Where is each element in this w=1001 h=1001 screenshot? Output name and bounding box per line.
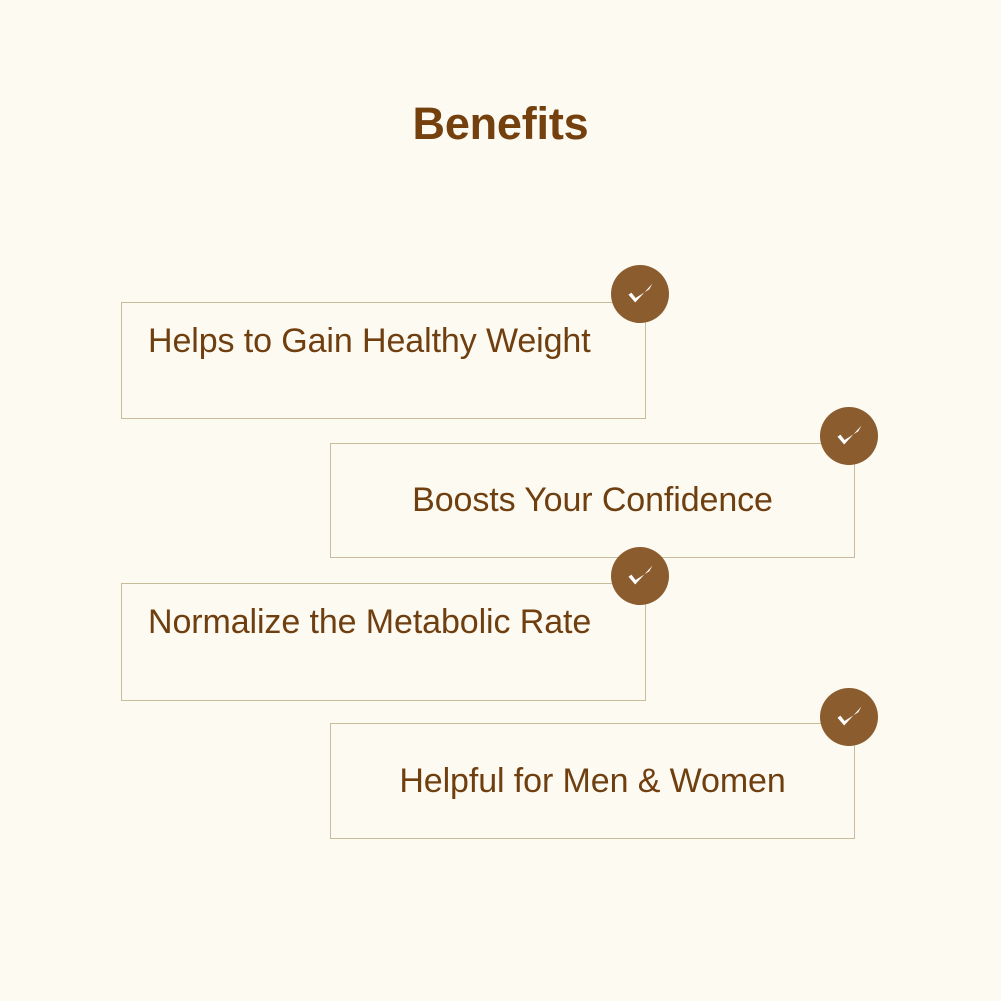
benefit-label-1: Helps to Gain Healthy Weight xyxy=(148,317,619,365)
benefits-panel: Benefits Helps to Gain Healthy Weight Bo… xyxy=(0,0,1001,1001)
page-title: Benefits xyxy=(0,101,1001,146)
check-circle-icon xyxy=(611,265,669,323)
check-circle-icon xyxy=(820,688,878,746)
benefit-item-1: Helps to Gain Healthy Weight xyxy=(121,302,646,419)
benefit-label-2: Boosts Your Confidence xyxy=(357,444,828,557)
benefit-label-4: Helpful for Men & Women xyxy=(357,724,828,838)
benefit-item-3: Normalize the Metabolic Rate xyxy=(121,583,646,701)
benefit-label-3: Normalize the Metabolic Rate xyxy=(148,598,619,646)
benefit-item-2: Boosts Your Confidence xyxy=(330,443,855,558)
check-circle-icon xyxy=(820,407,878,465)
check-circle-icon xyxy=(611,547,669,605)
benefit-item-4: Helpful for Men & Women xyxy=(330,723,855,839)
